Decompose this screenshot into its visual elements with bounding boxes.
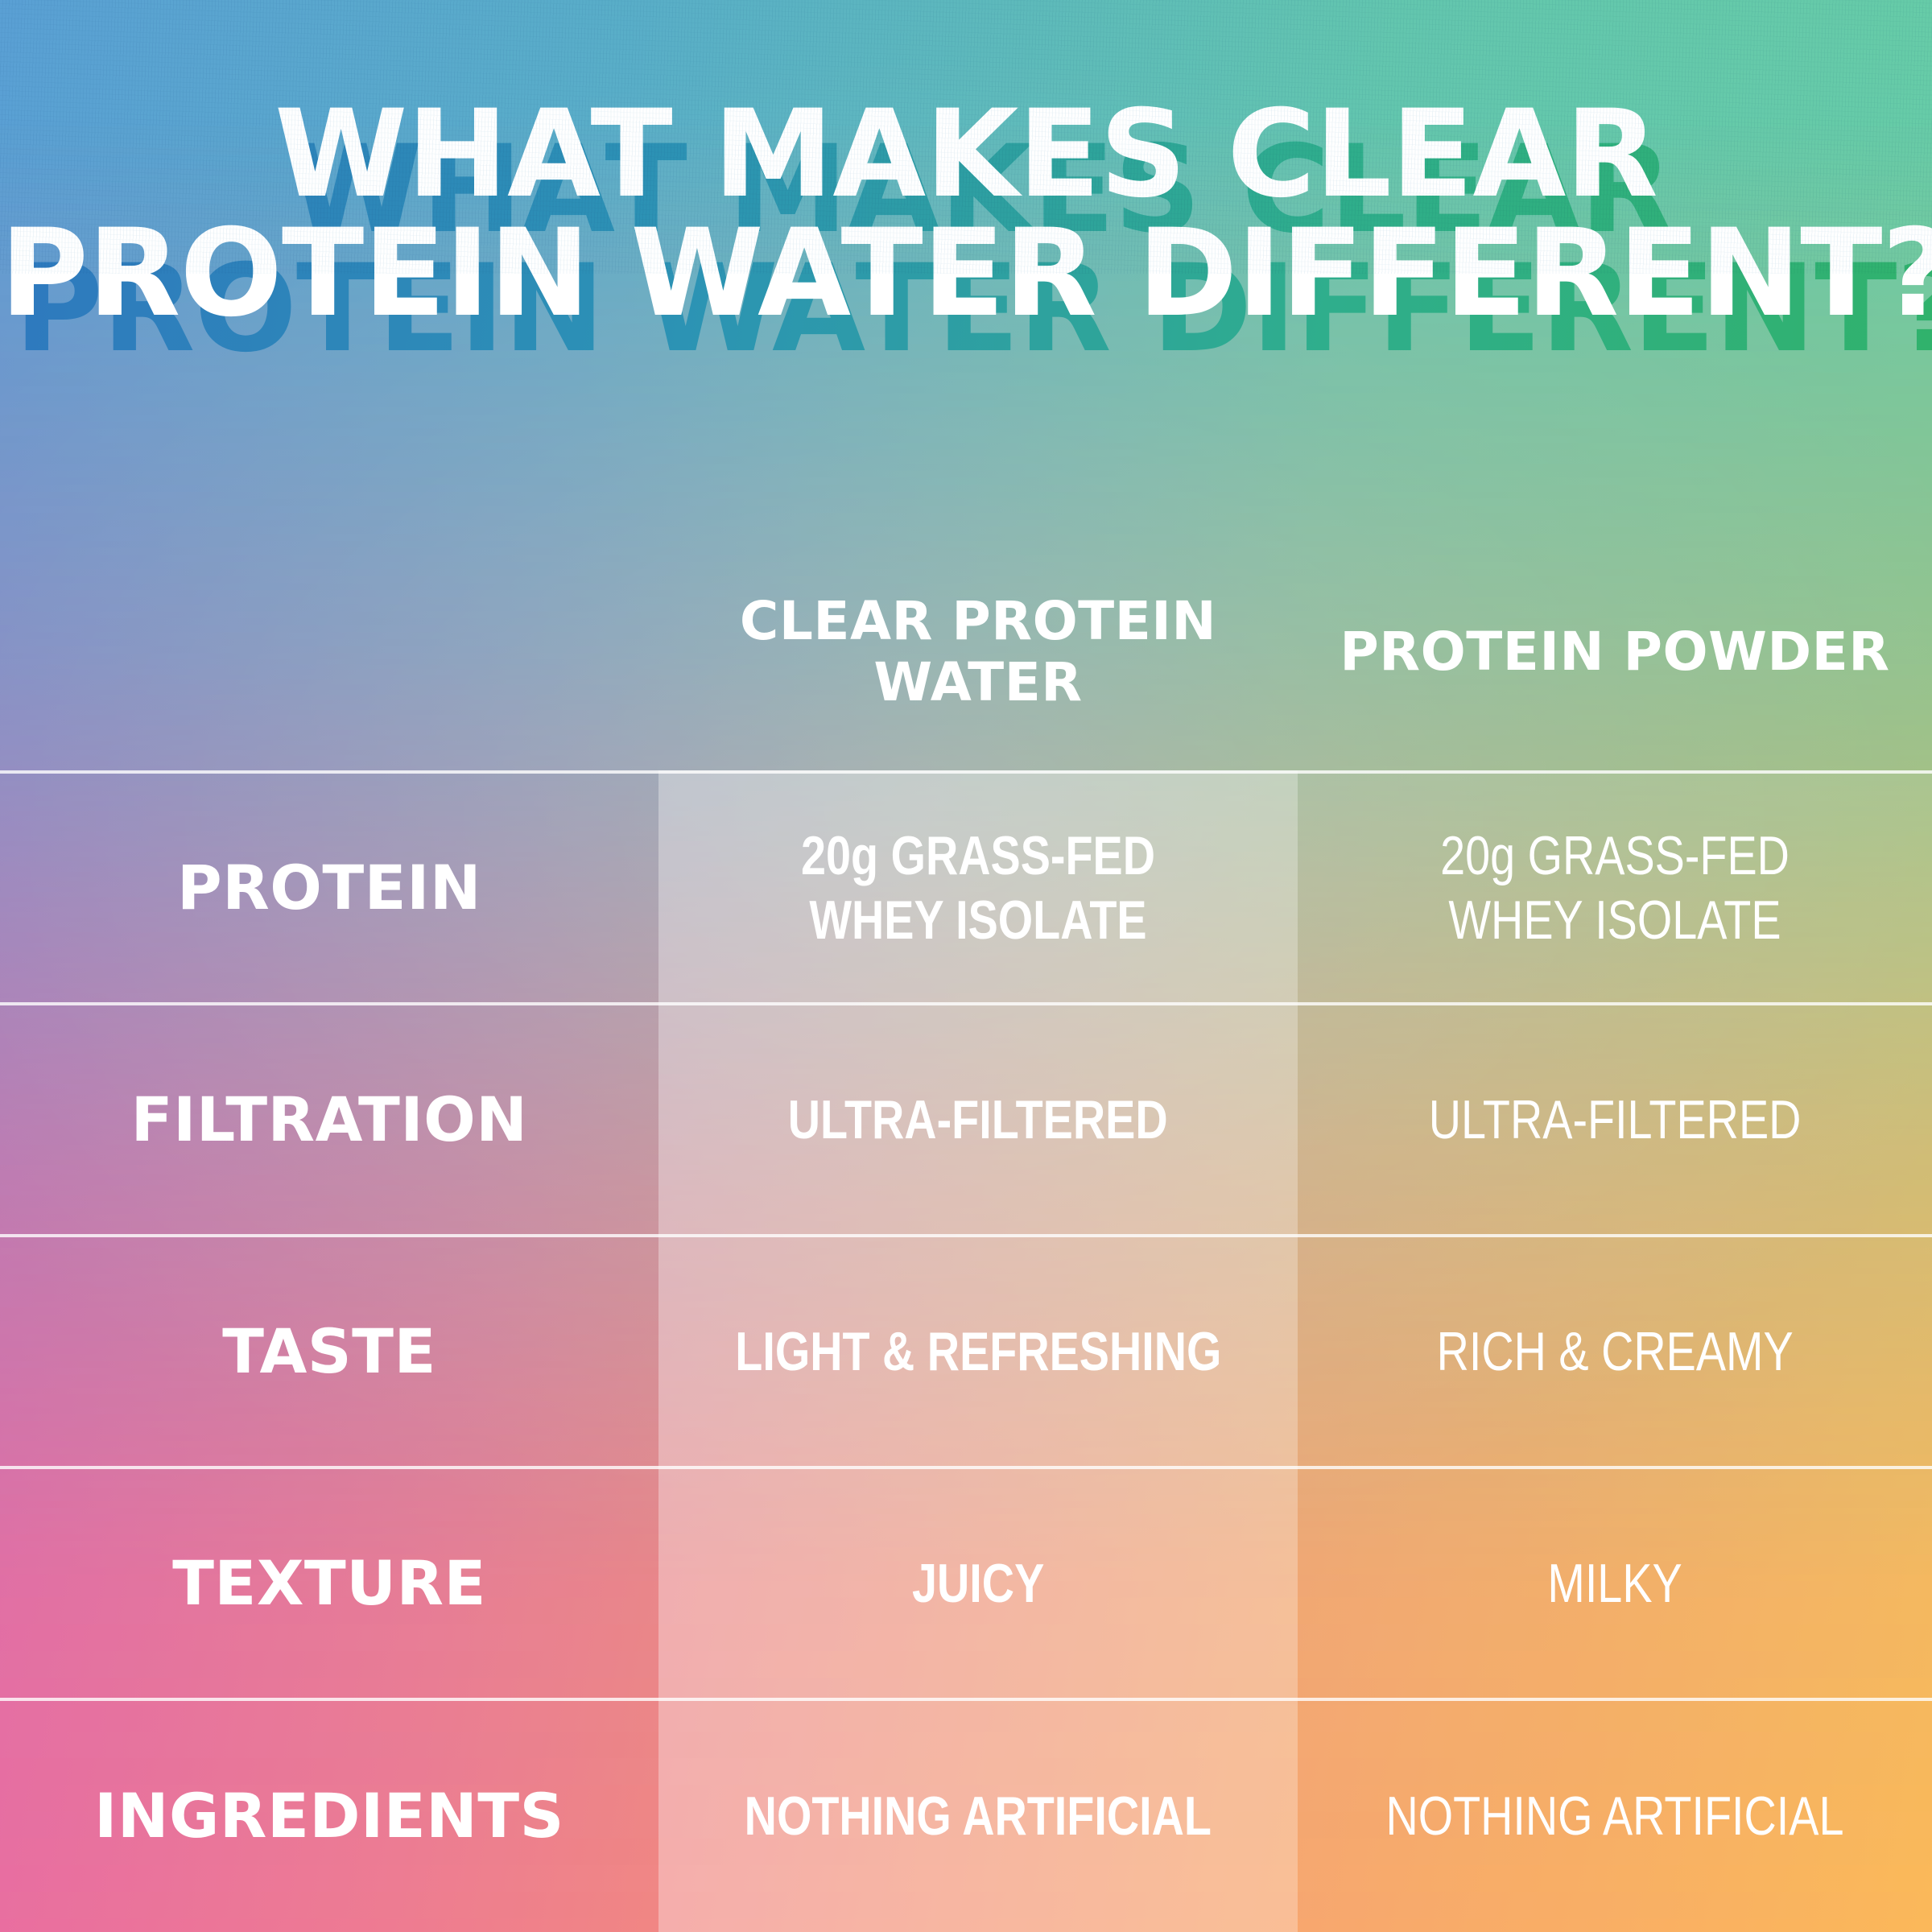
table-row: FILTRATION ULTRA-FILTERED ULTRA-FILTERED [0,1002,1932,1234]
comparison-table: CLEAR PROTEIN WATER PROTEIN POWDER PROTE… [0,547,1932,1931]
cell-clear-protein-water-text: LIGHT & REFRESHING [735,1319,1221,1384]
row-label-text: INGREDIENTS [94,1781,564,1851]
cell-protein-powder-text: NOTHING ARTIFICIAL [1385,1784,1843,1848]
infographic-canvas: WHAT MAKES CLEAR WHAT MAKES CLEAR PROTEI… [0,0,1932,1932]
row-label-cell: FILTRATION [0,1005,658,1234]
page-title: WHAT MAKES CLEAR WHAT MAKES CLEAR PROTEI… [0,95,1932,333]
table-header-row: CLEAR PROTEIN WATER PROTEIN POWDER [0,547,1932,770]
table-row: INGREDIENTS NOTHING ARTIFICIAL NOTHING A… [0,1698,1932,1931]
table-row: PROTEIN 20g GRASS-FED WHEY ISOLATE 20g G… [0,770,1932,1002]
cell-protein-powder: MILKY [1298,1469,1932,1698]
cell-protein-powder-text: 20g GRASS-FED WHEY ISOLATE [1369,824,1860,952]
cell-clear-protein-water-text: 20g GRASS-FED WHEY ISOLATE [731,824,1226,952]
cell-clear-protein-water: NOTHING ARTIFICIAL [658,1701,1298,1931]
row-label-text: PROTEIN [177,853,481,923]
row-label-cell: PROTEIN [0,774,658,1002]
cell-clear-protein-water: 20g GRASS-FED WHEY ISOLATE [658,774,1298,1002]
cell-clear-protein-water-text: NOTHING ARTIFICIAL [745,1784,1212,1848]
row-label-text: FILTRATION [131,1085,528,1154]
cell-clear-protein-water: ULTRA-FILTERED [658,1005,1298,1234]
cell-protein-powder-text: RICH & CREAMY [1436,1319,1793,1384]
header-protein-powder-text: PROTEIN POWDER [1340,621,1889,683]
cell-clear-protein-water-text: JUICY [912,1551,1044,1616]
header-cell-protein-powder: PROTEIN POWDER [1298,547,1932,756]
cell-clear-protein-water: LIGHT & REFRESHING [658,1237,1298,1466]
row-label-cell: TEXTURE [0,1469,658,1698]
cell-clear-protein-water-text: ULTRA-FILTERED [788,1088,1168,1152]
header-cell-clear-protein-water: CLEAR PROTEIN WATER [658,547,1298,756]
cell-protein-powder: ULTRA-FILTERED [1298,1005,1932,1234]
table-row: TEXTURE JUICY MILKY [0,1466,1932,1698]
title-line-2: PROTEIN WATER DIFFERENT? PROTEIN WATER D… [0,214,1932,333]
cell-protein-powder: RICH & CREAMY [1298,1237,1932,1466]
cell-protein-powder: 20g GRASS-FED WHEY ISOLATE [1298,774,1932,1002]
table-row: TASTE LIGHT & REFRESHING RICH & CREAMY [0,1234,1932,1466]
title-line-2-text: PROTEIN WATER DIFFERENT? [0,204,1932,344]
header-cell-label-column [0,547,658,756]
title-line-1: WHAT MAKES CLEAR WHAT MAKES CLEAR [0,95,1932,214]
header-clear-protein-water-text: CLEAR PROTEIN WATER [676,591,1280,713]
row-label-text: TEXTURE [172,1549,486,1618]
cell-clear-protein-water: JUICY [658,1469,1298,1698]
cell-protein-powder: NOTHING ARTIFICIAL [1298,1701,1932,1931]
cell-protein-powder-text: ULTRA-FILTERED [1429,1088,1802,1152]
row-label-cell: TASTE [0,1237,658,1466]
row-label-text: TASTE [222,1317,436,1386]
row-label-cell: INGREDIENTS [0,1701,658,1931]
cell-protein-powder-text: MILKY [1547,1551,1682,1616]
